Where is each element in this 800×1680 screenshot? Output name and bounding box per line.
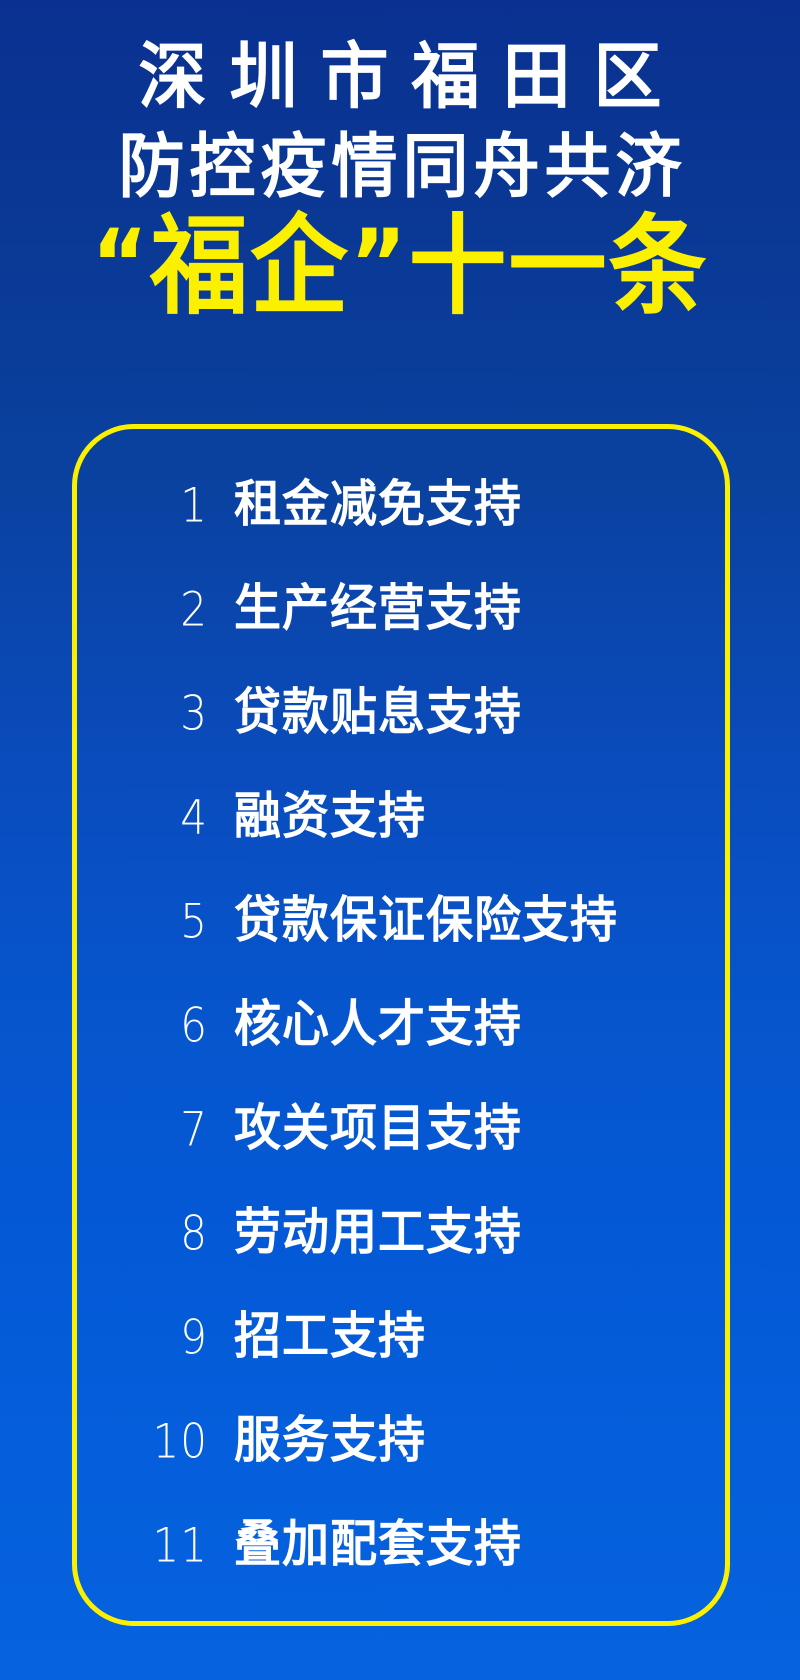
list-item-number: 10: [124, 1418, 208, 1465]
list-item[interactable]: 4融资支持: [72, 793, 730, 840]
list-item[interactable]: 5贷款保证保险支持: [72, 897, 730, 944]
list-item-number: 2: [124, 586, 208, 633]
list-item-number: 4: [124, 794, 208, 841]
list-item-label: 贷款贴息支持: [234, 687, 522, 737]
list-item-label: 生产经营支持: [234, 583, 522, 633]
list-item[interactable]: 1租金减免支持: [72, 481, 730, 528]
list-item-label: 服务支持: [234, 1415, 426, 1465]
list-item[interactable]: 7攻关项目支持: [72, 1105, 730, 1152]
poster-headline: “福企”十一条: [0, 211, 800, 324]
list-item-number: 6: [124, 1002, 208, 1049]
poster-title-line-1: 深圳市福田区: [0, 42, 800, 114]
poster-header: 深圳市福田区 防控疫情同舟共济 “福企”十一条: [0, 0, 800, 319]
list-item-number: 11: [124, 1522, 208, 1569]
list-item-label: 核心人才支持: [234, 999, 522, 1049]
list-item-label: 劳动用工支持: [234, 1207, 522, 1257]
list-item-number: 9: [124, 1314, 208, 1361]
list-item-label: 叠加配套支持: [234, 1519, 522, 1569]
list-item-label: 融资支持: [234, 791, 426, 841]
poster-root: 深圳市福田区 防控疫情同舟共济 “福企”十一条 1租金减免支持2生产经营支持3贷…: [0, 0, 800, 1680]
list-item-number: 8: [124, 1210, 208, 1257]
headline-close-quote: ”: [350, 210, 409, 320]
policy-item-list: 1租金减免支持2生产经营支持3贷款贴息支持4融资支持5贷款保证保险支持6核心人才…: [72, 424, 730, 1626]
headline-keyword: 福企: [150, 204, 350, 329]
list-item[interactable]: 2生产经营支持: [72, 585, 730, 632]
headline-suffix: 十一条: [409, 204, 709, 329]
headline-open-quote: “: [91, 210, 150, 320]
list-item[interactable]: 6核心人才支持: [72, 1001, 730, 1048]
list-item[interactable]: 11叠加配套支持: [72, 1521, 730, 1568]
list-item-label: 贷款保证保险支持: [234, 895, 618, 945]
list-item-number: 7: [124, 1106, 208, 1153]
list-item-number: 3: [124, 690, 208, 737]
list-item-label: 租金减免支持: [234, 479, 522, 529]
poster-title-line-2: 防控疫情同舟共济: [0, 132, 800, 202]
list-item-label: 攻关项目支持: [234, 1103, 522, 1153]
list-item-number: 5: [124, 898, 208, 945]
list-item[interactable]: 8劳动用工支持: [72, 1209, 730, 1256]
list-item[interactable]: 3贷款贴息支持: [72, 689, 730, 736]
list-item[interactable]: 10服务支持: [72, 1417, 730, 1464]
list-item-label: 招工支持: [234, 1311, 426, 1361]
list-item-number: 1: [124, 482, 208, 529]
list-item[interactable]: 9招工支持: [72, 1313, 730, 1360]
